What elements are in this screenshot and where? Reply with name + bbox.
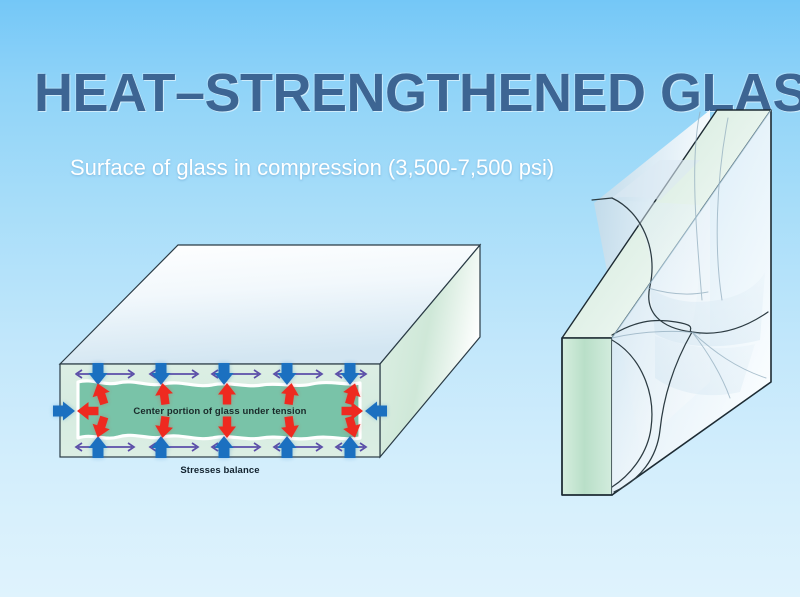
glass-slab-diagram: Center portion of glass under tension St…	[53, 245, 480, 476]
tension-core-label: Center portion of glass under tension	[133, 406, 306, 417]
illustration: Center portion of glass under tension St…	[0, 0, 800, 597]
stresses-balance-label: Stresses balance	[180, 465, 259, 476]
block-left-edge-face	[562, 338, 612, 495]
slide-canvas: HEAT–STRENGTHENED GLASS Surface of glass…	[0, 0, 800, 597]
fractured-glass-block	[562, 110, 771, 495]
